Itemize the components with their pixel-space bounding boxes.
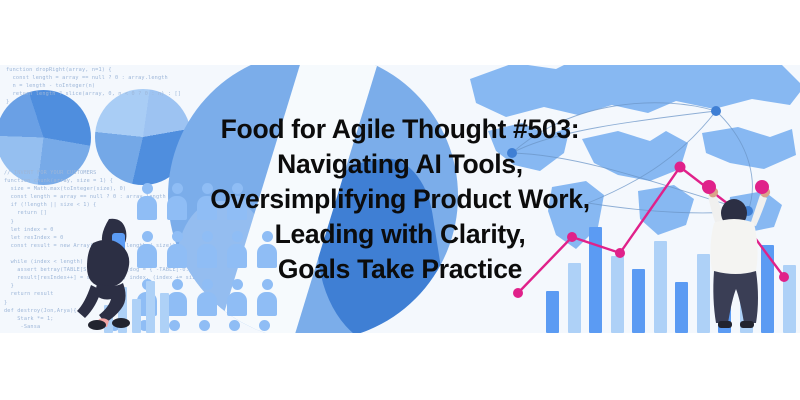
bar-chart-bar: [160, 293, 169, 333]
person-with-phone-icon: [63, 213, 155, 333]
article-hero-banner: assert COLS : "Nothing burns like the co…: [0, 65, 800, 333]
person-celebrating-icon: [692, 177, 778, 333]
